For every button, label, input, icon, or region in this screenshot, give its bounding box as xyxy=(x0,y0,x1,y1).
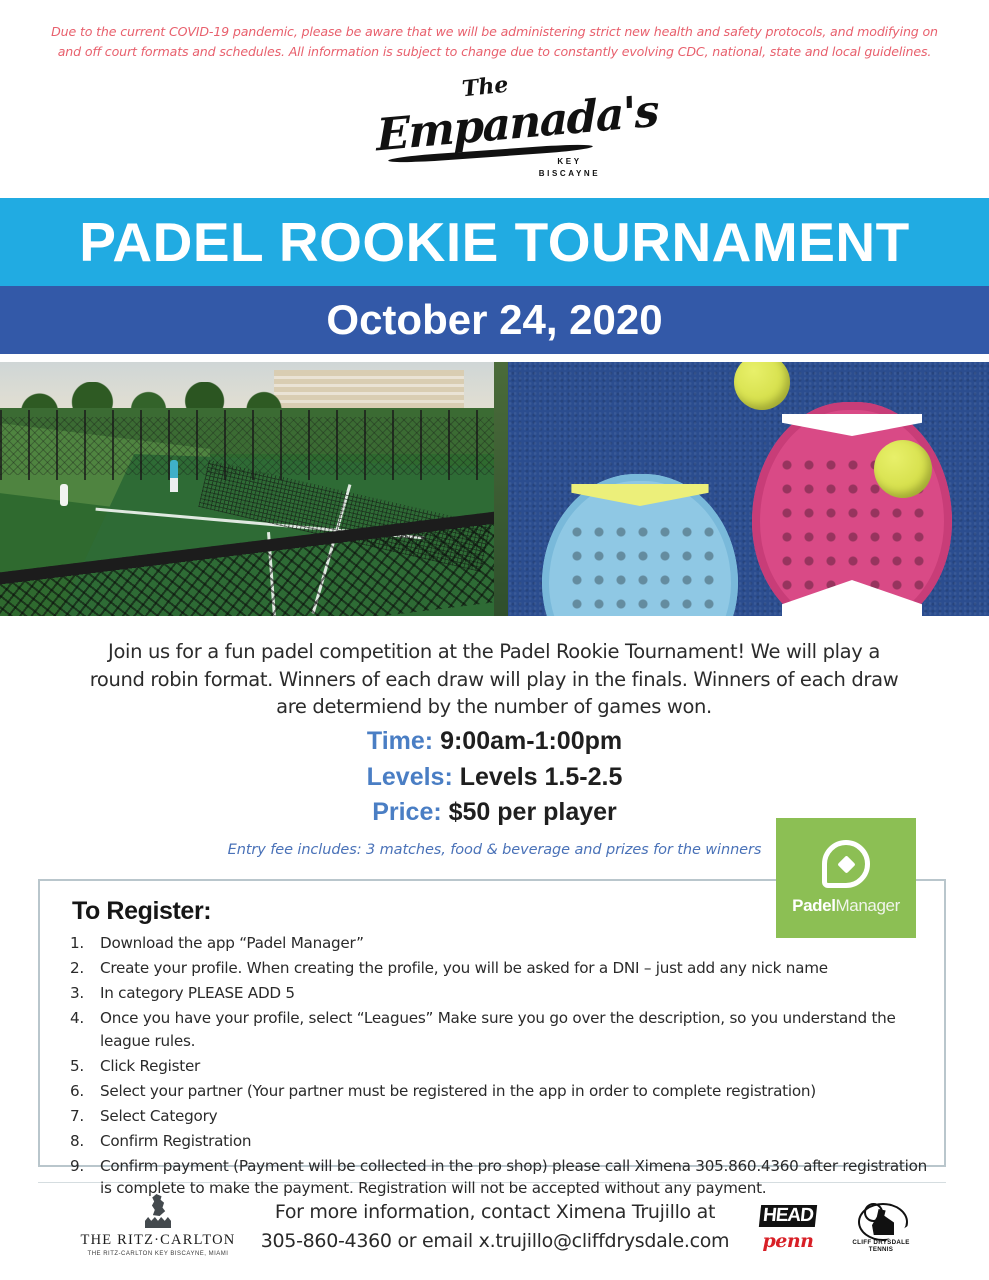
padel-manager-word-bold: Padel xyxy=(792,896,835,915)
photo-racket-chevron xyxy=(782,414,922,436)
list-item: 9. Confirm payment (Payment will be coll… xyxy=(62,1155,942,1200)
step-number: 9. xyxy=(62,1155,100,1200)
photo-strip xyxy=(0,362,989,616)
photo-player xyxy=(60,484,68,506)
event-details: Time: 9:00am-1:00pm Levels: Levels 1.5-2… xyxy=(0,724,989,831)
tournament-date-banner: October 24, 2020 xyxy=(0,286,989,354)
photo-turf-edge xyxy=(494,362,508,616)
cliff-drysdale-tennis-logo: CLIFF DRYSDALE TENNIS xyxy=(842,1203,920,1253)
step-text: Click Register xyxy=(100,1055,942,1078)
detail-value-price: $50 per player xyxy=(449,798,617,826)
step-number: 5. xyxy=(62,1055,100,1078)
step-text: In category PLEASE ADD 5 xyxy=(100,982,942,1005)
step-number: 1. xyxy=(62,932,100,955)
sponsor-logos: HEAD penn CLIFF DRYSDALE TENNIS xyxy=(748,1196,928,1260)
padel-courts-photo xyxy=(0,362,494,616)
penn-wordmark: penn xyxy=(748,1230,828,1252)
step-text: Once you have your profile, select “Leag… xyxy=(100,1007,942,1052)
list-item: 6. Select your partner (Your partner mus… xyxy=(62,1080,942,1103)
register-steps-list: 1. Download the app “Padel Manager” 2. C… xyxy=(62,932,942,1202)
step-number: 6. xyxy=(62,1080,100,1103)
empanadas-logo-location-line1: KEY xyxy=(557,157,581,166)
ritz-carlton-logo: THE RITZ·CARLTON THE RITZ-CARLTON KEY BI… xyxy=(78,1194,238,1257)
list-item: 5. Click Register xyxy=(62,1055,942,1078)
step-number: 7. xyxy=(62,1105,100,1128)
head-penn-logo: HEAD penn xyxy=(748,1205,828,1252)
tournament-title: PADEL ROOKIE TOURNAMENT xyxy=(79,215,909,270)
crown-icon xyxy=(145,1217,171,1228)
padel-manager-logo: PadelManager xyxy=(776,818,916,938)
empanadas-logo-the: The xyxy=(460,72,509,103)
step-number: 8. xyxy=(62,1130,100,1153)
detail-label-time: Time: xyxy=(367,727,433,755)
covid-notice: Due to the current COVID-19 pandemic, pl… xyxy=(40,22,949,61)
list-item: 2. Create your profile. When creating th… xyxy=(62,957,942,980)
detail-row-time: Time: 9:00am-1:00pm xyxy=(0,724,989,760)
tournament-date: October 24, 2020 xyxy=(326,299,662,341)
padel-manager-icon xyxy=(822,840,870,888)
list-item: 4. Once you have your profile, select “L… xyxy=(62,1007,942,1052)
event-description: Join us for a fun padel competition at t… xyxy=(78,638,910,721)
contact-line-2: 305-860-4360 or email x.trujillo@cliffdr… xyxy=(261,1230,730,1252)
photo-racket-holes xyxy=(566,520,715,616)
list-item: 3. In category PLEASE ADD 5 xyxy=(62,982,942,1005)
detail-row-levels: Levels: Levels 1.5-2.5 xyxy=(0,760,989,796)
step-text: Confirm payment (Payment will be collect… xyxy=(100,1155,942,1200)
ritz-carlton-property: THE RITZ-CARLTON KEY BISCAYNE, MIAMI xyxy=(78,1251,238,1257)
step-text: Confirm Registration xyxy=(100,1130,942,1153)
photo-racket-chevron xyxy=(571,484,708,506)
step-text: Create your profile. When creating the p… xyxy=(100,957,942,980)
contact-info: For more information, contact Ximena Tru… xyxy=(260,1198,730,1257)
tournament-title-banner: PADEL ROOKIE TOURNAMENT xyxy=(0,198,989,286)
step-number: 2. xyxy=(62,957,100,980)
padel-manager-word-light: Manager xyxy=(836,896,900,915)
photo-pink-racket xyxy=(752,402,952,616)
step-number: 3. xyxy=(62,982,100,1005)
photo-player xyxy=(170,460,178,482)
list-item: 8. Confirm Registration xyxy=(62,1130,942,1153)
step-text: Select your partner (Your partner must b… xyxy=(100,1080,942,1103)
empanadas-logo: The Empanada's KEY BISCAYNE xyxy=(0,78,989,183)
contact-line-1: For more information, contact Ximena Tru… xyxy=(275,1201,715,1223)
padel-manager-diamond-icon xyxy=(837,855,855,873)
list-item: 7. Select Category xyxy=(62,1105,942,1128)
detail-value-time: 9:00am-1:00pm xyxy=(440,727,622,755)
detail-label-levels: Levels: xyxy=(367,763,453,791)
head-wordmark: HEAD xyxy=(759,1205,817,1227)
ritz-carlton-name: THE RITZ·CARLTON xyxy=(78,1232,238,1249)
step-text: Select Category xyxy=(100,1105,942,1128)
empanadas-logo-location-line2: BISCAYNE xyxy=(539,169,600,178)
detail-value-levels: Levels 1.5-2.5 xyxy=(460,763,623,791)
step-number: 4. xyxy=(62,1007,100,1052)
register-heading: To Register: xyxy=(72,897,211,926)
detail-label-price: Price: xyxy=(372,798,441,826)
cliff-drysdale-wordmark: CLIFF DRYSDALE TENNIS xyxy=(842,1239,920,1253)
photo-fence-mesh xyxy=(0,417,494,475)
empanadas-logo-location: KEY BISCAYNE xyxy=(520,156,620,180)
padel-rackets-photo xyxy=(494,362,989,616)
photo-tennis-ball xyxy=(874,440,932,498)
padel-manager-wordmark: PadelManager xyxy=(792,896,900,916)
tennis-player-icon xyxy=(858,1203,904,1237)
